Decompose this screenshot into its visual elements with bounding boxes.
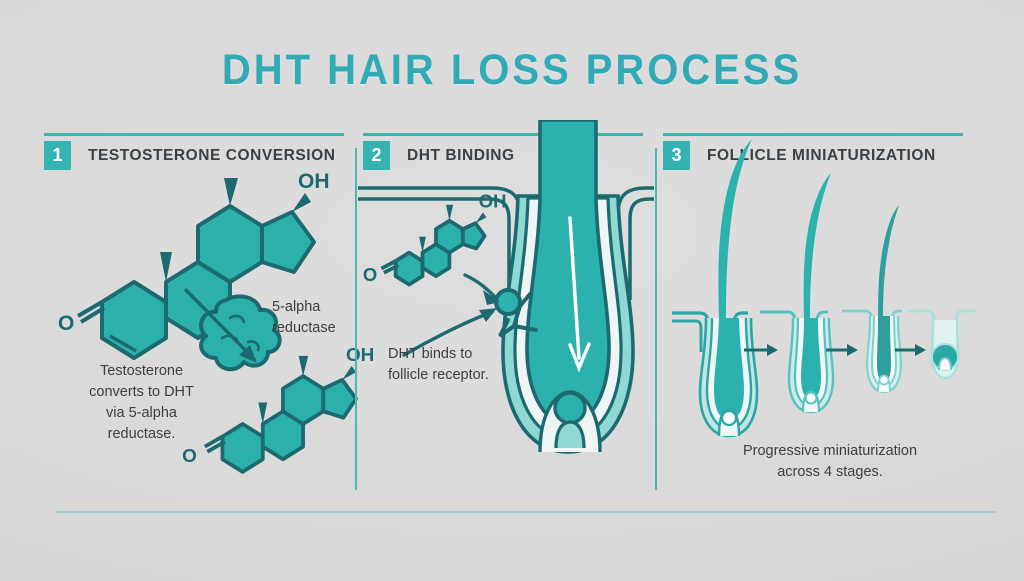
miniaturization-stage-1 bbox=[672, 139, 757, 436]
page-title: DHT HAIR LOSS PROCESS bbox=[36, 46, 988, 95]
bottom-rule bbox=[56, 511, 996, 513]
svg-text:O: O bbox=[182, 446, 197, 467]
follicle-outer-sheath bbox=[503, 196, 633, 452]
panel-divider-1 bbox=[355, 148, 357, 490]
panel-3-title: FOLLICLE MINIATURIZATION bbox=[707, 147, 936, 165]
dht-molecule-small: O OH bbox=[182, 345, 374, 472]
svg-text:OH: OH bbox=[479, 190, 507, 211]
panel-divider-2 bbox=[655, 148, 657, 490]
panel-1-caption: Testosterone converts to DHT via 5-alpha… bbox=[74, 361, 209, 446]
follicle-core bbox=[527, 120, 609, 424]
panel-1-top-rule bbox=[44, 133, 344, 136]
miniaturization-stage-3 bbox=[842, 205, 902, 392]
stage-arrow-1 bbox=[744, 344, 778, 356]
skin-surface-lines bbox=[358, 188, 520, 300]
svg-text:OH: OH bbox=[346, 345, 374, 366]
stage-arrow-2 bbox=[826, 344, 858, 356]
stage-arrow-3 bbox=[895, 344, 926, 356]
panel-3-top-rule bbox=[663, 133, 963, 136]
infographic-canvas: DHT HAIR LOSS PROCESS 1 TESTOSTERONE CON… bbox=[0, 0, 1024, 581]
miniaturization-stage-4 bbox=[908, 311, 976, 378]
panel-3-caption: Progressive miniaturization across 4 sta… bbox=[705, 441, 955, 483]
miniaturization-stage-2 bbox=[760, 173, 833, 412]
panel-2-title: DHT BINDING bbox=[407, 147, 515, 165]
bound-dht-molecule bbox=[496, 290, 520, 314]
panel-1-number-badge: 1 bbox=[44, 141, 71, 170]
follicle-inner-sheath bbox=[515, 198, 621, 438]
dermal-papilla bbox=[540, 392, 600, 452]
panel-1-header: 1 TESTOSTERONE CONVERSION bbox=[44, 141, 335, 170]
svg-text:O: O bbox=[363, 264, 377, 285]
hydroxyl-label-oh: OH bbox=[298, 170, 330, 193]
panel-3-number-badge: 3 bbox=[663, 141, 690, 170]
growth-direction-arrow bbox=[570, 218, 589, 368]
conversion-arrow bbox=[185, 289, 257, 363]
panel-1-title: TESTOSTERONE CONVERSION bbox=[88, 147, 335, 165]
ketone-label-o: O bbox=[58, 312, 74, 335]
panel-2-number-badge: 2 bbox=[363, 141, 390, 170]
enzyme-label: 5-alpha reductase bbox=[272, 297, 362, 338]
dht-binding-arrows bbox=[404, 275, 500, 355]
panel-2-caption: DHT binds to follicle receptor. bbox=[388, 344, 518, 386]
5-alpha-reductase-enzyme bbox=[201, 296, 280, 369]
panel-3-header: 3 FOLLICLE MINIATURIZATION bbox=[663, 141, 936, 170]
panel-2-header: 2 DHT BINDING bbox=[363, 141, 515, 170]
follicle-receptor bbox=[496, 290, 536, 336]
dht-molecule-panel2: O OH bbox=[363, 190, 507, 285]
skin-surface-lines-right bbox=[618, 188, 654, 300]
panel-2-top-rule bbox=[363, 133, 643, 136]
